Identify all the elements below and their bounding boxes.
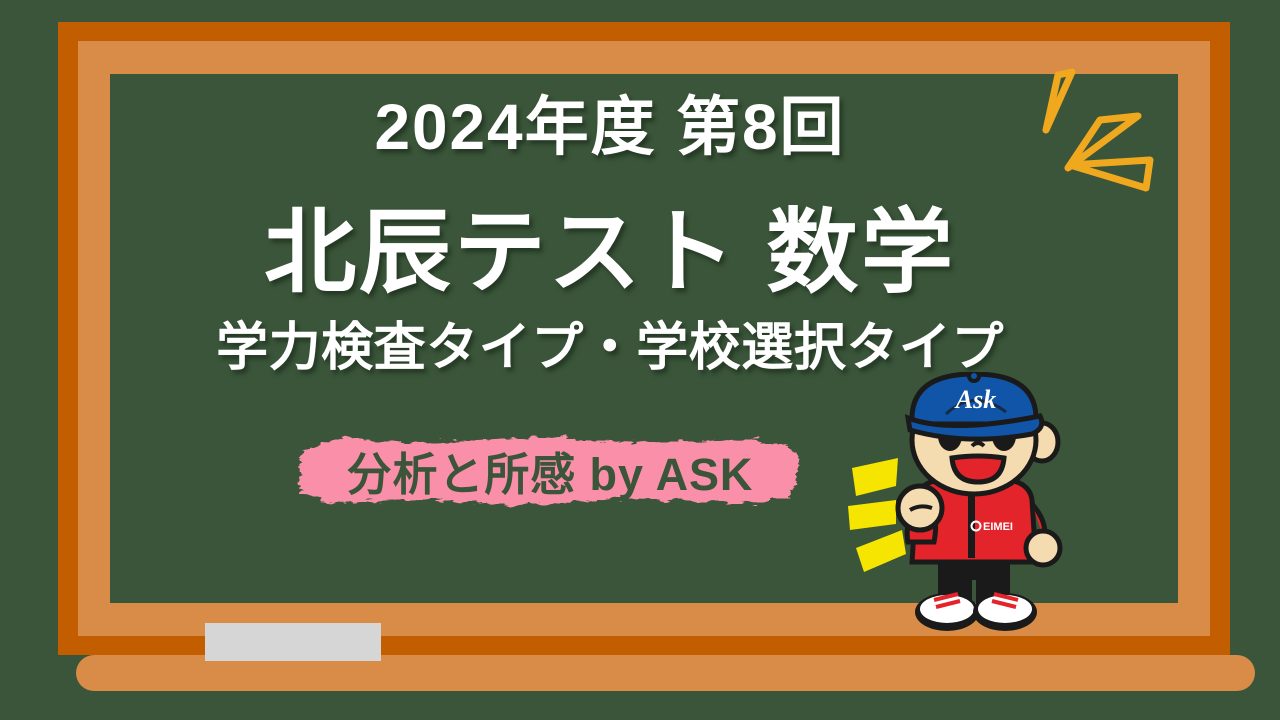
spark-marks-icon (1010, 60, 1190, 210)
jacket-logo-text: EIMEI (983, 521, 1013, 533)
cap-text: Ask (954, 385, 996, 414)
mascot-character: EIMEI Ask (846, 372, 1096, 650)
chalk-eraser (205, 623, 381, 661)
mascot-arm-left-fist (898, 486, 942, 542)
badge-label: 分析と所感 by ASK (288, 428, 812, 514)
badge-highlight: 分析と所感 by ASK (288, 428, 812, 514)
